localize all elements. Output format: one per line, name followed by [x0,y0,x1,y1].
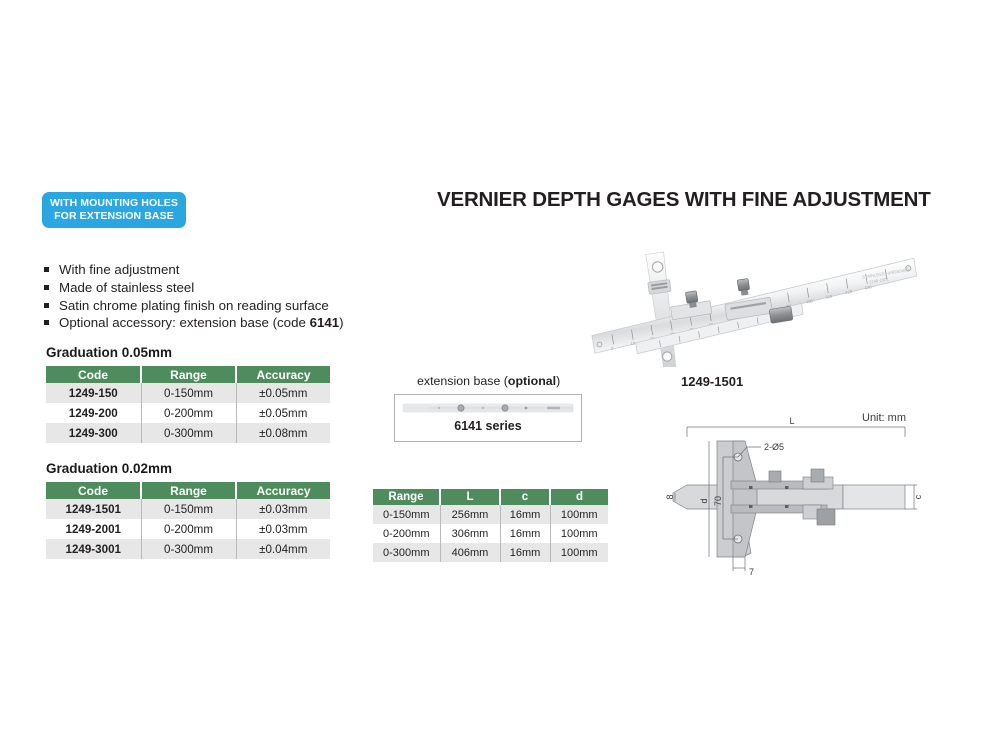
table-row: 1249-1501 0-150mm ±0.03mm [46,499,330,519]
column-header: Range [141,366,236,383]
extension-base-icon [401,400,575,417]
column-header: Accuracy [236,482,330,499]
table-row: 0-300mm 406mm 16mm 100mm [373,543,608,562]
depth-gage-icon: 01020 304050 607080 90100110 120130 STAI… [575,232,930,367]
column-header: Code [46,482,141,499]
extension-base-series: 6141 series [395,419,581,433]
table-row: 1249-300 0-300mm ±0.08mm [46,423,330,443]
extension-base-code: 6141 [310,315,340,330]
column-header: Code [46,366,141,383]
table-row: 0-200mm 306mm 16mm 100mm [373,524,608,543]
extension-base-photo [401,400,575,417]
dimension-drawing-icon: L [665,405,930,585]
list-item: Satin chrome plating finish on reading s… [44,297,424,315]
table-row: 1249-3001 0-300mm ±0.04mm [46,539,330,559]
page-title: VERNIER DEPTH GAGES WITH FINE ADJUSTMENT [437,188,931,212]
dimension-label-70: 70 [713,496,723,506]
column-header: Range [141,482,236,499]
graduation-002-table: Code Range Accuracy 1249-1501 0-150mm ±0… [46,482,330,559]
dimension-label-8: 8 [665,494,675,499]
graduation-005-table: Code Range Accuracy 1249-150 0-150mm ±0.… [46,366,330,443]
column-header: c [500,489,550,505]
dimension-label-c: c [913,494,923,499]
table-row: 0-150mm 256mm 16mm 100mm [373,505,608,524]
graduation-005-heading: Graduation 0.05mm [46,345,172,360]
table-row: 1249-2001 0-200mm ±0.03mm [46,519,330,539]
graduation-002-heading: Graduation 0.02mm [46,461,172,476]
column-header: Accuracy [236,366,330,383]
extension-base-box: 6141 series [394,394,582,442]
list-item: With fine adjustment [44,261,424,279]
feature-list: With fine adjustment Made of stainless s… [44,261,424,332]
extension-base-caption: extension base (optional) [417,374,560,388]
dimension-label-7: 7 [749,567,754,577]
technical-drawing: L [665,405,930,585]
column-header: d [550,489,608,505]
mounting-holes-badge: WITH MOUNTING HOLES FOR EXTENSION BASE [42,192,186,228]
dimension-label-L: L [789,416,794,426]
list-item: Made of stainless steel [44,279,424,297]
badge-line-1: WITH MOUNTING HOLES [42,197,186,210]
dimension-label-d: d [699,498,709,503]
catalog-page: WITH MOUNTING HOLES FOR EXTENSION BASE W… [0,0,1000,750]
dimension-label-holes: 2-Ø5 [764,442,784,452]
column-header: Range [373,489,440,505]
badge-line-2: FOR EXTENSION BASE [42,210,186,223]
dimensions-table: Range L c d 0-150mm 256mm 16mm 100mm 0-2… [373,489,608,562]
product-model-number: 1249-1501 [681,374,743,389]
vernier-depth-gage-photo: 01020 304050 607080 90100110 120130 STAI… [575,232,930,367]
list-item: Optional accessory: extension base (code… [44,314,424,332]
table-row: 1249-200 0-200mm ±0.05mm [46,403,330,423]
table-row: 1249-150 0-150mm ±0.05mm [46,383,330,403]
column-header: L [440,489,500,505]
